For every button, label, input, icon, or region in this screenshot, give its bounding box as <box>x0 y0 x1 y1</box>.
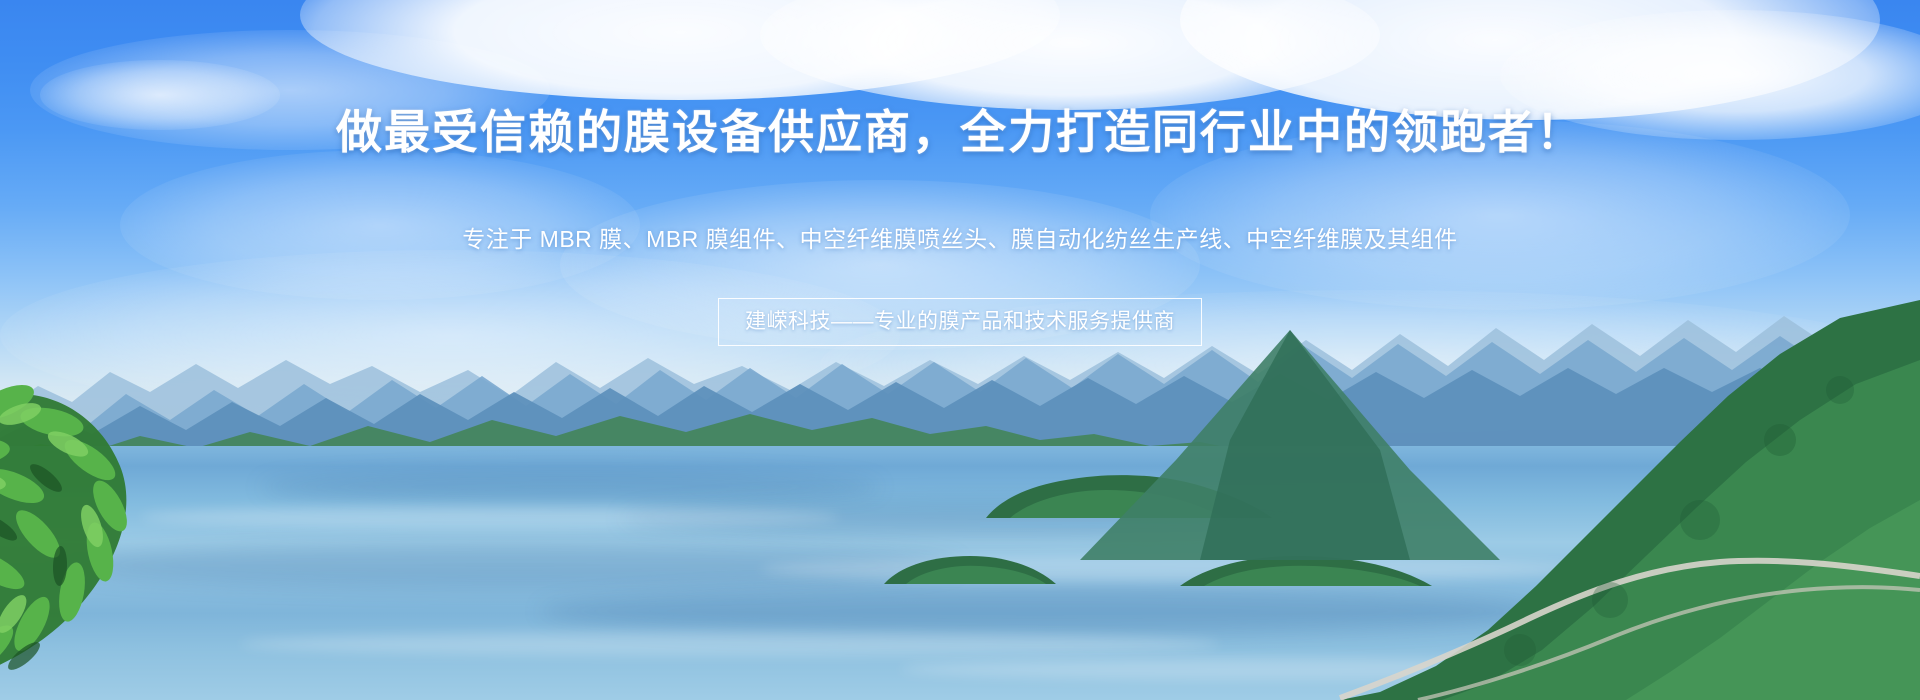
banner-headline: 做最受信赖的膜设备供应商，全力打造同行业中的领跑者！ <box>0 102 1920 162</box>
banner-subheadline: 专注于 MBR 膜、MBR 膜组件、中空纤维膜喷丝头、膜自动化纺丝生产线、中空纤… <box>0 222 1920 256</box>
banner-tagline-wrapper: 建嵘科技——专业的膜产品和技术服务提供商 <box>0 298 1920 346</box>
banner-text-overlay: 做最受信赖的膜设备供应商，全力打造同行业中的领跑者！ 专注于 MBR 膜、MBR… <box>0 0 1920 700</box>
hero-banner: 做最受信赖的膜设备供应商，全力打造同行业中的领跑者！ 专注于 MBR 膜、MBR… <box>0 0 1920 700</box>
banner-tagline-box: 建嵘科技——专业的膜产品和技术服务提供商 <box>718 298 1202 346</box>
